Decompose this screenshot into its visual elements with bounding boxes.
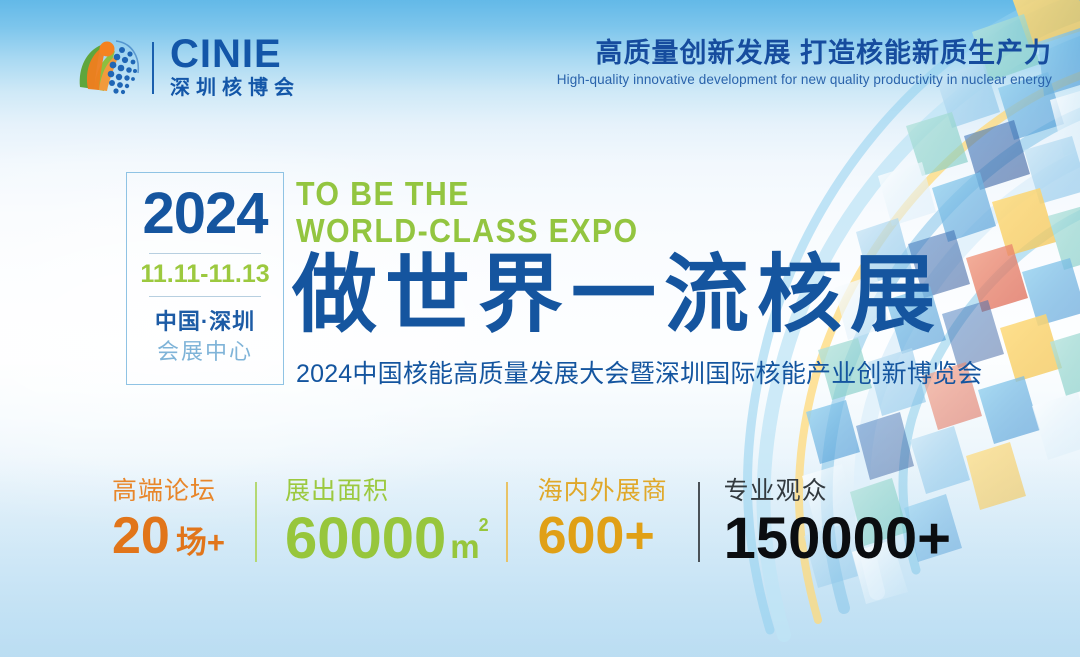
stat-exhibitors-label: 海内外展商 (538, 478, 668, 506)
stat-forums-number: 20 (112, 510, 170, 562)
slogan-chinese: 高质量创新发展 打造核能新质生产力 (557, 38, 1052, 69)
stats-row: 高端论坛 20 场+ 展出面积 60000 m2 海内外展商 600+ 专业观众 (112, 478, 951, 568)
english-headline-line1: TO BE THE (296, 176, 639, 213)
stat-visitors-value: 150000+ (724, 510, 951, 568)
expo-poster: CINIE 深圳核博会 高质量创新发展 打造核能新质生产力 High-quali… (0, 0, 1080, 657)
stat-exhibitors: 海内外展商 600+ (508, 478, 698, 562)
stat-area-unit-exponent: 2 (479, 516, 489, 534)
stat-area-value: 60000 m2 (285, 510, 480, 568)
stat-forums: 高端论坛 20 场+ (112, 478, 255, 562)
slogan-english: High-quality innovative development for … (557, 72, 1052, 87)
stat-area: 展出面积 60000 m2 (257, 478, 506, 568)
event-year: 2024 (142, 185, 267, 243)
date-card-rule-top (149, 253, 261, 254)
stat-exhibitors-value: 600+ (538, 510, 655, 562)
date-venue-card: 2024 11.11-11.13 中国·深圳 会展中心 (126, 172, 284, 385)
cinie-globe-figure-icon (70, 33, 140, 103)
stat-visitors: 专业观众 150000+ (700, 478, 951, 568)
english-headline: TO BE THE WORLD-CLASS EXPO (296, 176, 639, 250)
stat-area-unit-base: m (450, 528, 479, 565)
logo-wordmark-cn: 深圳核博会 (170, 76, 300, 101)
event-full-name: 2024中国核能高质量发展大会暨深圳国际核能产业创新博览会 (296, 354, 982, 390)
stat-area-unit: m2 (450, 530, 479, 563)
stat-area-label: 展出面积 (285, 478, 389, 506)
stat-forums-value: 20 场+ (112, 510, 225, 562)
event-date-range: 11.11-11.13 (140, 262, 269, 287)
stat-visitors-number: 150000+ (724, 510, 951, 568)
stat-forums-label: 高端论坛 (112, 478, 216, 506)
event-venue: 会展中心 (157, 338, 253, 366)
main-headline: 做世界一流核展 (292, 253, 943, 338)
stat-area-number: 60000 (285, 510, 446, 568)
cinie-logo[interactable]: CINIE 深圳核博会 (70, 33, 300, 103)
stat-visitors-label: 专业观众 (724, 478, 828, 506)
stat-forums-suffix: 场+ (176, 527, 225, 558)
slogan-block: 高质量创新发展 打造核能新质生产力 High-quality innovativ… (557, 38, 1052, 87)
date-card-rule-bottom (149, 296, 261, 297)
logo-wordmark-en: CINIE (170, 35, 300, 74)
english-headline-line2: WORLD-CLASS EXPO (296, 213, 639, 250)
stat-exhibitors-number: 600+ (538, 510, 655, 562)
logo-divider (152, 42, 154, 94)
event-city: 中国·深圳 (155, 308, 255, 336)
